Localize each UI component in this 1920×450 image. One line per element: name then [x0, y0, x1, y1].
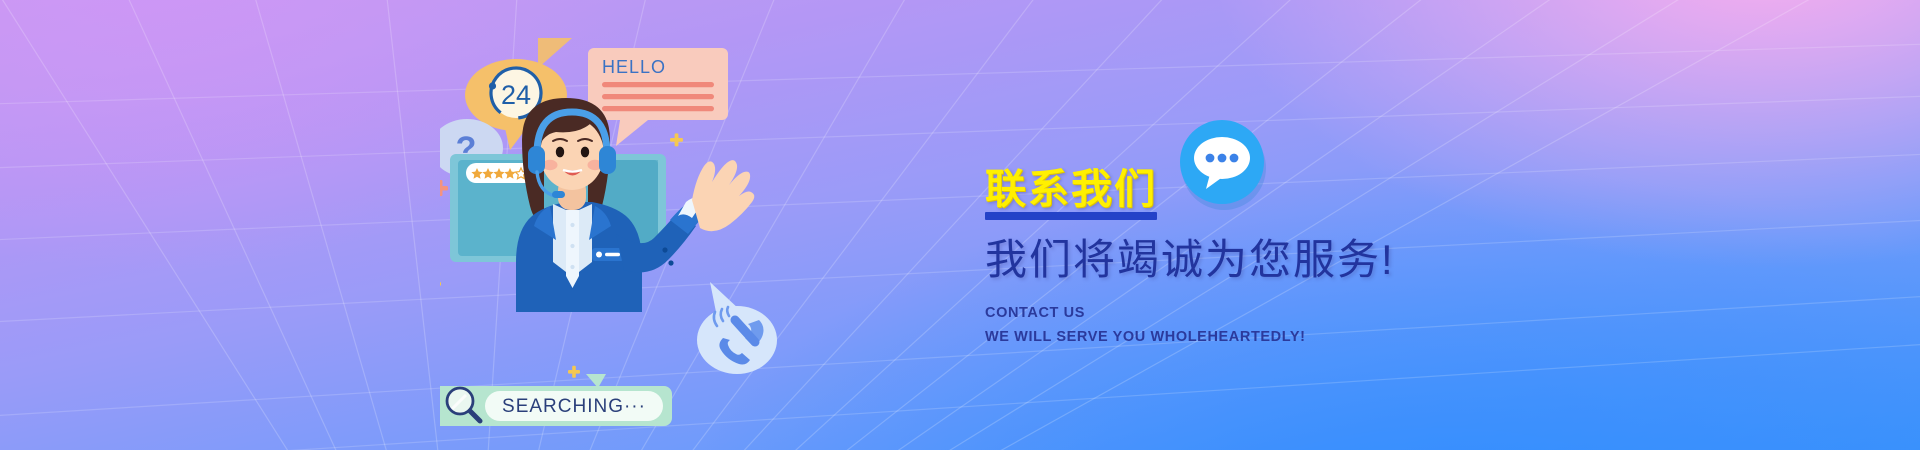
headline-wrapper: 联系我们 [985, 168, 1157, 220]
english-line-contact-us: CONTACT US [985, 302, 1395, 325]
bubble-phone [697, 282, 777, 374]
agent-name-badge [592, 248, 624, 261]
perspective-grid-background [0, 0, 1920, 450]
subheadline: 我们将竭诚为您服务! [985, 237, 1395, 283]
headline-underline-bar [985, 212, 1157, 220]
page-title: 联系我们 [985, 168, 1157, 211]
contact-text-block: 联系我们 我们将竭诚为您服务! CONTACT US WE WILL SERVE… [985, 168, 1395, 349]
svg-text:SEARCHING···: SEARCHING··· [502, 396, 646, 417]
customer-service-illustration: 24 ? HELLO [440, 20, 870, 435]
svg-text:HELLO: HELLO [602, 57, 666, 77]
contact-us-banner: 24 ? HELLO [0, 0, 1920, 450]
english-subtitle-group: CONTACT US WE WILL SERVE YOU WHOLEHEARTE… [985, 302, 1395, 349]
search-bar: SEARCHING··· [440, 374, 672, 426]
svg-text:24: 24 [501, 80, 531, 110]
english-line-tagline: WE WILL SERVE YOU WHOLEHEARTEDLY! [985, 326, 1395, 349]
